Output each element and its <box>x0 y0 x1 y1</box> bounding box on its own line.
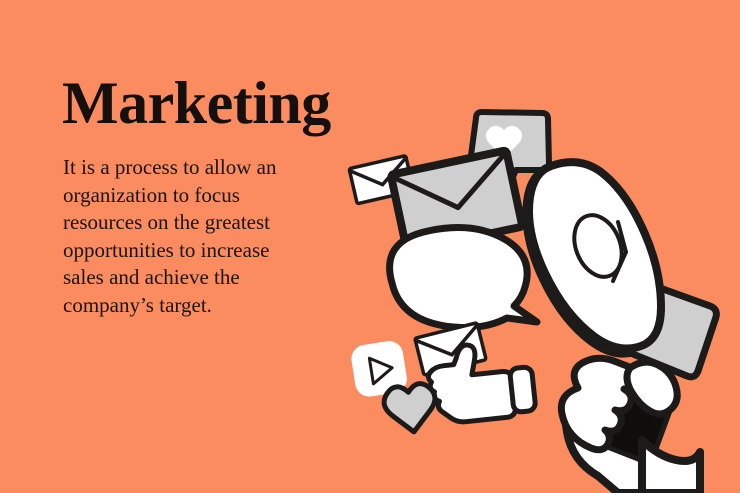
megaphone-icon <box>526 162 716 377</box>
megaphone-illustration: .ink { fill: none; stroke: #1c1b1a; } .w… <box>330 100 740 493</box>
speech-bubble-oval-icon <box>390 228 537 328</box>
hand-holding-megaphone-icon <box>561 358 700 493</box>
slide-canvas: Marketing It is a process to allow an or… <box>0 0 740 493</box>
body-paragraph: It is a process to allow an organization… <box>63 154 313 319</box>
text-block: Marketing It is a process to allow an or… <box>62 72 330 319</box>
heart-small-icon <box>382 382 439 436</box>
page-title: Marketing <box>62 72 330 134</box>
